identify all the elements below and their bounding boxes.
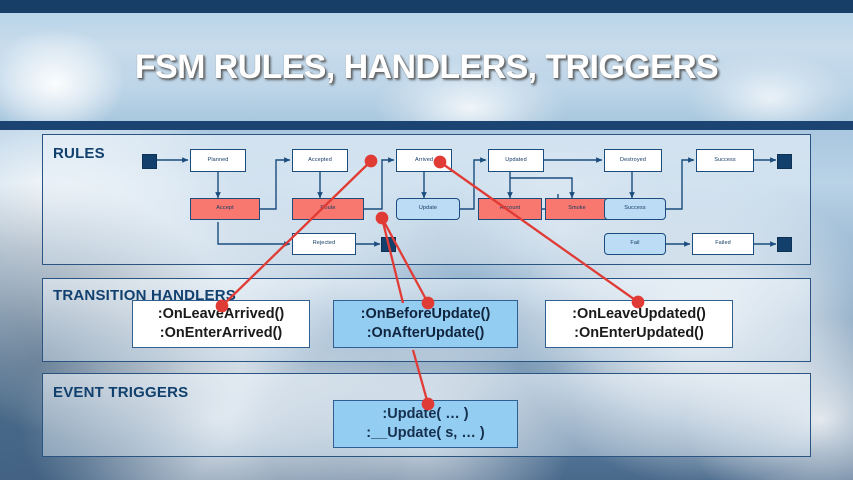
handler-box-updated[interactable]: :OnLeaveUpdated() :OnEnterUpdated() <box>545 300 733 348</box>
handler-updated-line-2: :OnEnterUpdated() <box>574 324 704 343</box>
fsm-node-destroyed[interactable]: Destroyed <box>604 149 662 172</box>
fsm-node-success-event[interactable]: Success <box>604 198 666 220</box>
fsm-node-planned[interactable]: Planned <box>190 149 246 172</box>
handler-arrived-line-2: :OnEnterArrived() <box>160 324 282 343</box>
fsm-node-accept[interactable]: Accept <box>190 198 260 220</box>
fsm-state-diagram: Planned Accept Accepted Route Rejected A… <box>42 134 811 265</box>
handler-box-arrived[interactable]: :OnLeaveArrived() :OnEnterArrived() <box>132 300 310 348</box>
fsm-terminal-start <box>142 154 157 169</box>
trigger-update-line-2: :__Update( s, … ) <box>366 424 484 443</box>
fsm-node-account[interactable]: Account <box>478 198 542 220</box>
fsm-node-route[interactable]: Route <box>292 198 364 220</box>
handler-update-line-2: :OnAfterUpdate() <box>367 324 485 343</box>
fsm-terminal-success-end <box>777 154 792 169</box>
slide-canvas: FSM RULES, HANDLERS, TRIGGERS RULES TRAN… <box>0 0 853 480</box>
fsm-node-updated[interactable]: Updated <box>488 149 544 172</box>
handler-updated-line-1: :OnLeaveUpdated() <box>572 305 706 324</box>
fsm-node-success-state[interactable]: Success <box>696 149 754 172</box>
fsm-node-accepted[interactable]: Accepted <box>292 149 348 172</box>
handler-arrived-line-1: :OnLeaveArrived() <box>158 305 285 324</box>
fsm-node-rejected[interactable]: Rejected <box>292 233 356 255</box>
fsm-terminal-rejected-end <box>381 237 396 252</box>
page-title: FSM RULES, HANDLERS, TRIGGERS <box>0 13 853 121</box>
trigger-update-line-1: :Update( … ) <box>382 405 468 424</box>
fsm-node-fail-event[interactable]: Fail <box>604 233 666 255</box>
fsm-node-failed-state[interactable]: Failed <box>692 233 754 255</box>
title-underline-bar <box>0 121 853 130</box>
handler-box-update[interactable]: :OnBeforeUpdate() :OnAfterUpdate() <box>333 300 518 348</box>
trigger-box-update[interactable]: :Update( … ) :__Update( s, … ) <box>333 400 518 448</box>
top-accent-bar <box>0 0 853 13</box>
fsm-node-arrived[interactable]: Arrived <box>396 149 452 172</box>
fsm-terminal-failed-end <box>777 237 792 252</box>
fsm-node-smoke[interactable]: Smoke <box>545 198 609 220</box>
fsm-node-update[interactable]: Update <box>396 198 460 220</box>
handler-update-line-1: :OnBeforeUpdate() <box>361 305 491 324</box>
event-triggers-panel-label: EVENT TRIGGERS <box>53 384 188 401</box>
